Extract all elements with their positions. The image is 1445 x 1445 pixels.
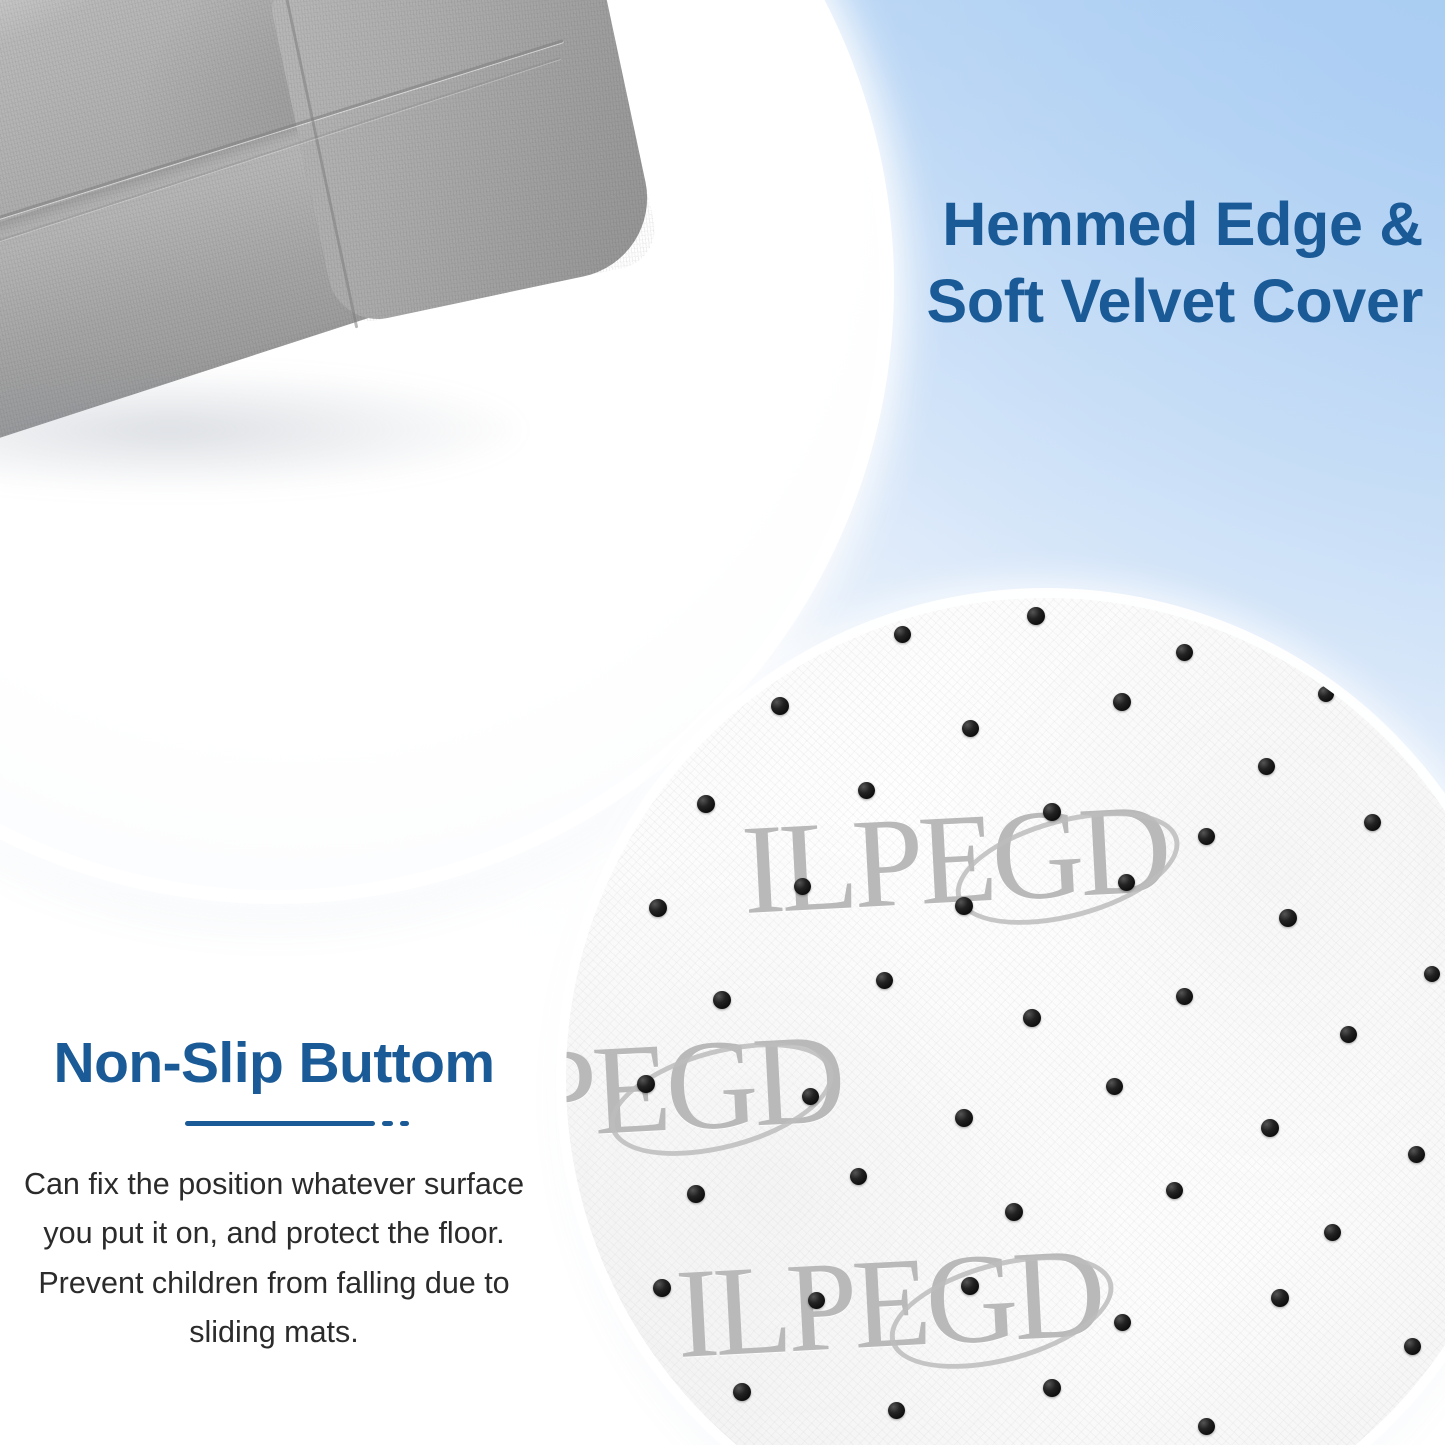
nonslip-dot	[1414, 740, 1430, 756]
nonslip-dot	[1261, 1119, 1279, 1137]
divider-dash	[382, 1121, 393, 1126]
nonslip-dot	[808, 1292, 825, 1309]
divider	[0, 1121, 548, 1126]
nonslip-dot	[1279, 909, 1297, 927]
nonslip-dot	[653, 1279, 671, 1297]
nonslip-dot	[1106, 1078, 1123, 1095]
description-line-3: Prevent children from falling due to	[0, 1259, 548, 1308]
feature-title: Non-Slip Buttom	[0, 1032, 548, 1095]
nonslip-dot	[637, 1075, 655, 1093]
heading-line-1: Hemmed Edge &	[942, 190, 1423, 258]
nonslip-dot	[1176, 988, 1193, 1005]
nonslip-dot	[1258, 758, 1275, 775]
nonslip-dot	[649, 899, 667, 917]
nonslip-dot	[1198, 1418, 1215, 1435]
feature-block-non-slip: Non-Slip Buttom Can fix the position wha…	[0, 1032, 548, 1357]
nonslip-dot	[802, 1088, 819, 1105]
nonslip-dot	[962, 720, 979, 737]
nonslip-dot	[1340, 1026, 1357, 1043]
photo-nonslip-bottom: ILPEGD ILPEGD ILPEGD	[566, 598, 1445, 1445]
nonslip-dot	[858, 782, 875, 799]
nonslip-dot	[876, 972, 893, 989]
divider-dash	[400, 1121, 409, 1126]
nonslip-dot	[1118, 874, 1135, 891]
feature-description: Can fix the position whatever surface yo…	[0, 1160, 548, 1358]
brand-watermark: ILPEGD	[738, 775, 1169, 944]
nonslip-dot	[894, 626, 911, 643]
nonslip-dot	[1364, 814, 1381, 831]
description-line-1: Can fix the position whatever surface	[0, 1160, 548, 1209]
nonslip-dot	[1424, 966, 1440, 982]
nonslip-dot	[771, 697, 789, 715]
nonslip-dot	[1166, 1182, 1183, 1199]
description-line-2: you put it on, and protect the floor.	[0, 1209, 548, 1258]
nonslip-dot	[850, 1168, 867, 1185]
nonslip-dot	[961, 1277, 979, 1295]
nonslip-dot	[955, 897, 973, 915]
nonslip-dot	[733, 1383, 751, 1401]
brand-watermark: ILPEGD	[672, 1219, 1103, 1388]
infographic-canvas: ILPEGD ILPEGD ILPEGD Hemmed Edge & Soft …	[0, 0, 1445, 1445]
brand-watermark: ILPEGD	[566, 1005, 844, 1174]
nonslip-dot	[888, 1402, 905, 1419]
nonslip-dot	[1005, 1203, 1023, 1221]
feature-heading-hemmed-edge: Hemmed Edge & Soft Velvet Cover	[863, 186, 1423, 340]
nonslip-dot	[1113, 693, 1131, 711]
nonslip-dot	[1043, 803, 1061, 821]
divider-line	[185, 1121, 375, 1126]
heading-line-2: Soft Velvet Cover	[863, 263, 1423, 340]
nonslip-dot	[1198, 828, 1215, 845]
nonslip-dot	[794, 878, 811, 895]
nonslip-dot	[1027, 607, 1045, 625]
nonslip-dot	[1324, 1224, 1341, 1241]
nonslip-dot	[1043, 1379, 1061, 1397]
nonslip-dot	[1114, 1314, 1131, 1331]
nonslip-dot	[1404, 1338, 1421, 1355]
nonslip-dot	[1023, 1009, 1041, 1027]
nonslip-dot	[1271, 1289, 1289, 1307]
nonslip-dot	[713, 991, 731, 1009]
description-line-4: sliding mats.	[0, 1308, 548, 1357]
nonslip-dot	[1408, 1146, 1425, 1163]
nonslip-dot	[1318, 686, 1334, 702]
nonslip-dot	[687, 1185, 705, 1203]
nonslip-dot	[1176, 644, 1193, 661]
nonslip-dot	[697, 795, 715, 813]
nonslip-dot	[955, 1109, 973, 1127]
